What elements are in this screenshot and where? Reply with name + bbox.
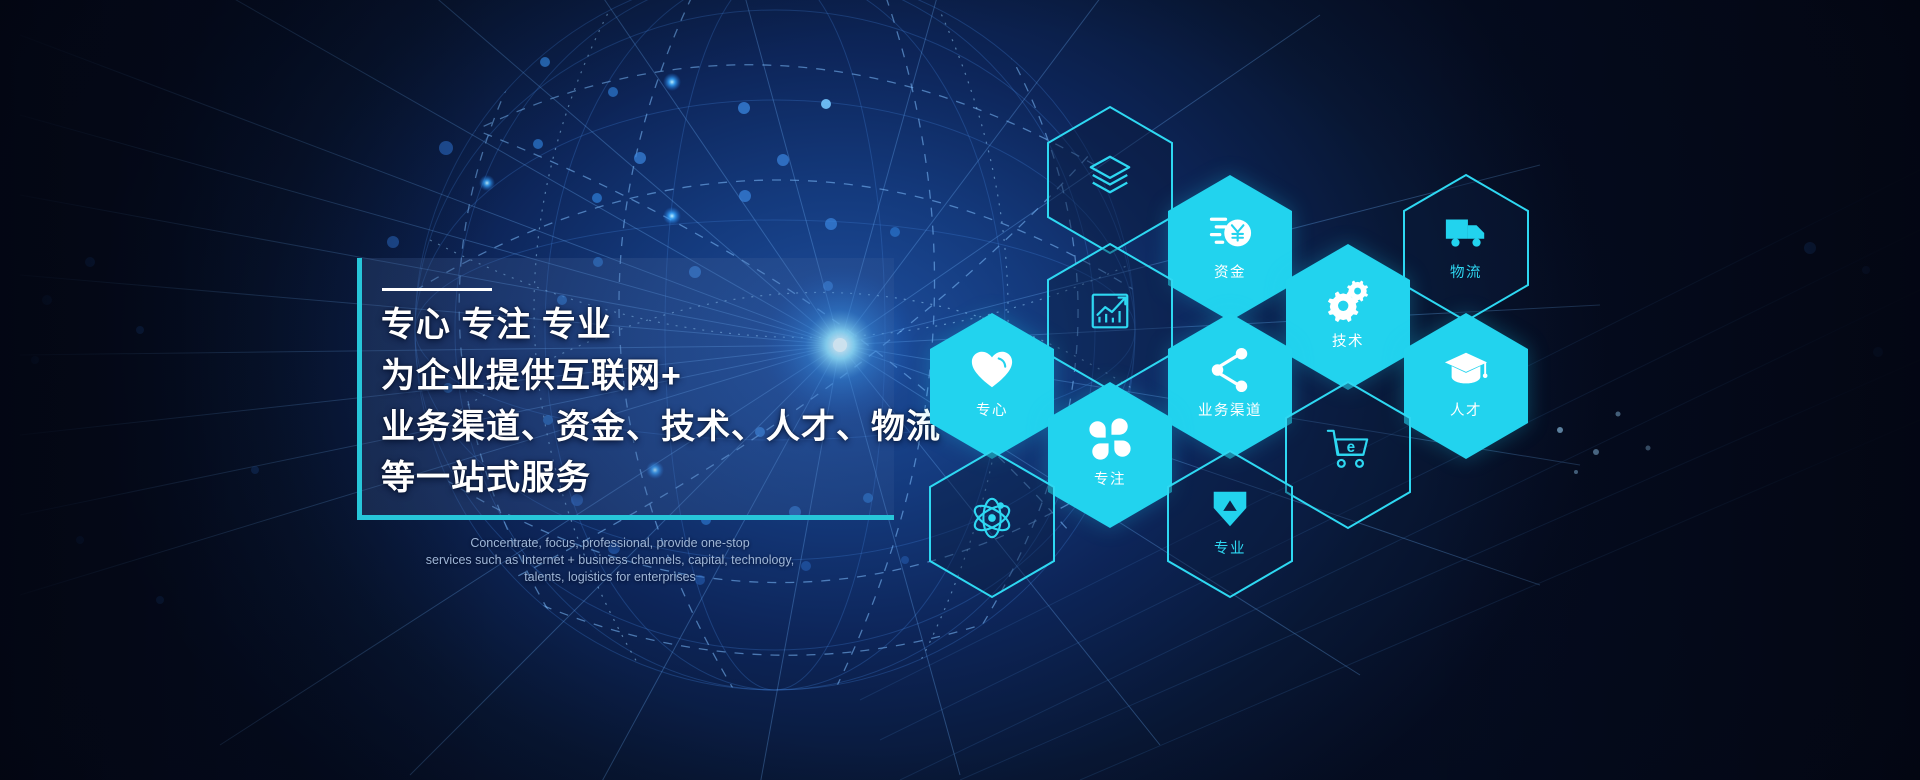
banner-stage: 专心 专注 专业 为企业提供互联网+ 业务渠道、资金、技术、人才、物流 等一站式… (0, 0, 1920, 780)
hexagon-cluster: 资金 物流 (0, 0, 1920, 780)
hex-tile-layers[interactable] (1045, 105, 1175, 255)
hex-label: 专注 (1045, 468, 1175, 489)
hex-tile-wuliu[interactable]: 物流 (1401, 173, 1531, 323)
hex-tile-zijin[interactable]: 资金 (1165, 173, 1295, 323)
svg-text:e: e (1347, 439, 1356, 456)
layers-icon (1045, 149, 1175, 199)
hex-label: 技术 (1283, 330, 1413, 351)
chart-growth-icon (1045, 286, 1175, 336)
hex-tile-zhuanzhu[interactable]: 专注 (1045, 380, 1175, 530)
heart-icon (927, 345, 1057, 395)
hex-tile-chart[interactable] (1045, 242, 1175, 392)
hex-label: 资金 (1165, 261, 1295, 282)
hex-tile-jishu[interactable]: 技术 (1283, 242, 1413, 392)
hex-tile-atom[interactable] (927, 449, 1057, 599)
hex-label: 专心 (927, 399, 1057, 420)
truck-icon (1401, 207, 1531, 257)
clover-icon (1045, 414, 1175, 464)
graduation-cap-icon (1401, 345, 1531, 395)
gem-diamond-icon (1165, 483, 1295, 533)
hex-tile-qudao[interactable]: 业务渠道 (1165, 311, 1295, 461)
hex-tile-ecommerce[interactable]: e (1283, 380, 1413, 530)
hex-label: 人才 (1401, 399, 1531, 420)
yen-coin-icon (1165, 207, 1295, 257)
hex-tile-zhuanxin[interactable]: 专心 (927, 311, 1057, 461)
gears-icon (1283, 276, 1413, 326)
share-nodes-icon (1165, 345, 1295, 395)
ecommerce-cart-icon: e (1283, 424, 1413, 474)
atom-icon (927, 493, 1057, 543)
hex-label: 业务渠道 (1165, 399, 1295, 420)
hex-tile-zhuanye[interactable]: 专业 (1165, 449, 1295, 599)
hex-label: 物流 (1401, 261, 1531, 282)
hex-tile-rencai[interactable]: 人才 (1401, 311, 1531, 461)
hex-label: 专业 (1165, 537, 1295, 558)
